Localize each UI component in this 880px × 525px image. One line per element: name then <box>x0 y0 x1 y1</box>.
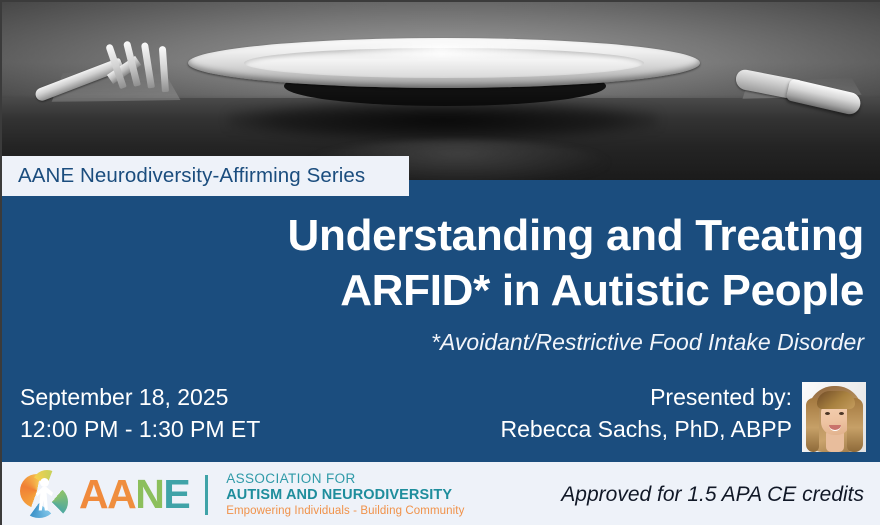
aane-logo: AANE ASSOCIATION FOR AUTISM AND NEURODIV… <box>20 470 464 520</box>
series-banner-label: AANE Neurodiversity-Affirming Series <box>2 164 365 188</box>
event-time: 12:00 PM - 1:30 PM ET <box>20 413 260 446</box>
hero-photo <box>2 2 880 180</box>
event-date: September 18, 2025 <box>20 381 260 414</box>
knife-icon <box>736 64 864 116</box>
aane-wordmark: AANE <box>79 474 189 516</box>
plate-icon <box>188 38 700 118</box>
presenter-label: Presented by: <box>501 381 793 414</box>
series-banner: AANE Neurodiversity-Affirming Series <box>2 156 409 196</box>
logo-divider <box>205 475 208 515</box>
page-title-line-2: ARFID* in Autistic People <box>164 263 864 318</box>
webinar-flyer: AANE Neurodiversity-Affirming Series Und… <box>0 0 880 525</box>
presenter-block: Presented by: Rebecca Sachs, PhD, ABPP <box>501 381 867 452</box>
ce-credit-note: Approved for 1.5 APA CE credits <box>561 483 868 507</box>
avatar <box>802 382 866 452</box>
presenter-text: Presented by: Rebecca Sachs, PhD, ABPP <box>501 381 793 452</box>
wordmark-letter-1: A <box>79 474 107 515</box>
wordmark-letter-2: A <box>107 474 135 515</box>
wordmark-letter-4: E <box>163 474 189 515</box>
title-footnote: *Avoidant/Restrictive Food Intake Disord… <box>164 329 864 356</box>
logo-line-autism-neurodiversity: AUTISM AND NEURODIVERSITY <box>226 487 464 504</box>
footer: AANE ASSOCIATION FOR AUTISM AND NEURODIV… <box>2 462 880 525</box>
schedule-block: September 18, 2025 12:00 PM - 1:30 PM ET <box>20 381 260 446</box>
wordmark-letter-3: N <box>135 474 163 515</box>
main-panel: Understanding and Treating ARFID* in Aut… <box>2 180 880 462</box>
aane-circle-figure-icon <box>20 470 70 520</box>
logo-line-association: ASSOCIATION FOR <box>226 471 464 487</box>
logo-text-block: ASSOCIATION FOR AUTISM AND NEURODIVERSIT… <box>226 471 464 518</box>
fork-icon <box>36 40 186 132</box>
presenter-name: Rebecca Sachs, PhD, ABPP <box>501 413 793 446</box>
logo-tagline: Empowering Individuals - Building Commun… <box>226 505 464 518</box>
page-title-line-1: Understanding and Treating <box>164 208 864 263</box>
title-block: Understanding and Treating ARFID* in Aut… <box>164 208 864 356</box>
